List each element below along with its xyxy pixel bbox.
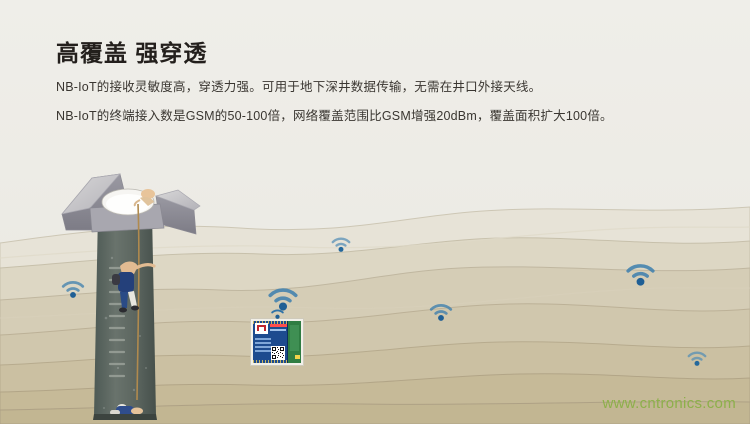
wifi-signal-icon-4 — [428, 300, 454, 322]
site-watermark: www.cntronics.com — [603, 395, 736, 412]
wifi-signal-icon-1 — [60, 277, 86, 299]
body-line-2: NB-IoT的终端接入数是GSM的50-100倍，网络覆盖范围比GSM增强20d… — [56, 105, 613, 124]
wifi-signal-icon-7 — [269, 306, 286, 320]
well-shaft-wall — [94, 212, 156, 416]
board-model-text — [270, 329, 286, 331]
board-brand-text — [270, 324, 288, 327]
well-floor — [93, 414, 157, 420]
slide-canvas: 高覆盖 强穿透 NB-IoT的接收灵敏度高，穿透力强。可用于地下深井数据传输，无… — [0, 0, 750, 424]
wifi-signal-icon-6 — [686, 348, 708, 367]
nb-iot-module-board — [250, 318, 304, 366]
body-line-1: NB-IoT的接收灵敏度高，穿透力强。可用于地下深井数据传输，无需在井口外接天线… — [56, 76, 541, 95]
wifi-signal-icon-3 — [330, 234, 352, 253]
board-logo-icon — [255, 323, 268, 334]
board-pins-bottom — [253, 360, 287, 363]
board-spec-text — [255, 338, 271, 354]
page-title: 高覆盖 强穿透 — [56, 34, 207, 68]
board-qr-code — [271, 346, 285, 360]
board-led-indicator — [295, 355, 300, 359]
board-module-chip — [287, 321, 301, 363]
wifi-signal-icon-5 — [624, 259, 657, 287]
